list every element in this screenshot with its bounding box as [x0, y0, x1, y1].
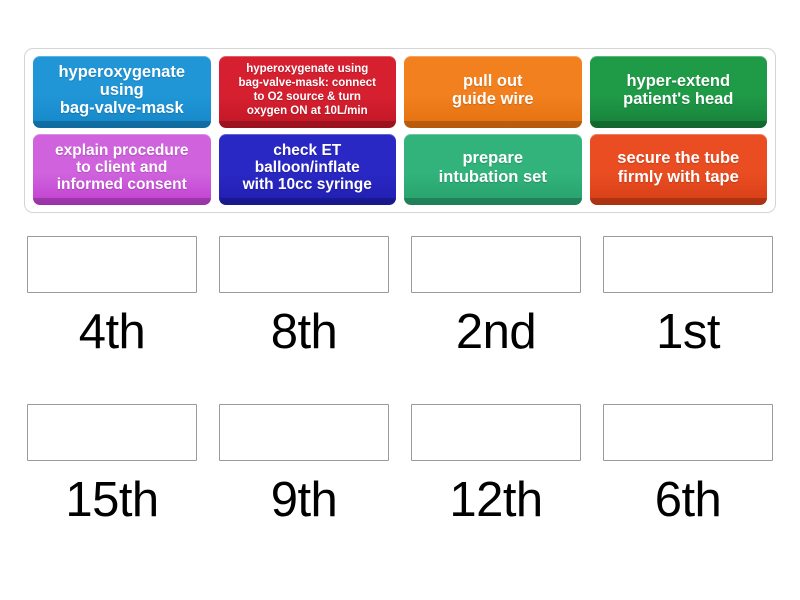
draggable-tile-8[interactable]: secure the tube firmly with tape — [590, 134, 768, 206]
draggable-tile-7[interactable]: prepare intubation set — [404, 134, 582, 206]
drop-box[interactable] — [603, 404, 773, 461]
drop-slot-4: 1st — [600, 236, 776, 358]
drop-box[interactable] — [27, 236, 197, 293]
draggable-tile-1[interactable]: hyperoxygenate using bag-valve-mask — [33, 56, 211, 128]
drop-slot-2: 8th — [216, 236, 392, 358]
ordering-activity-page: hyperoxygenate using bag-valve-mask hype… — [0, 0, 800, 600]
drop-box[interactable] — [27, 404, 197, 461]
drop-slot-row-1: 4th 8th 2nd 1st — [24, 236, 776, 358]
slot-ordinal-label: 6th — [655, 475, 722, 526]
tile-label: hyper-extend patient's head — [623, 72, 733, 112]
draggable-tile-3[interactable]: pull out guide wire — [404, 56, 582, 128]
tile-label: pull out guide wire — [452, 72, 534, 112]
drop-slot-5: 15th — [24, 404, 200, 526]
tile-grid: hyperoxygenate using bag-valve-mask hype… — [33, 56, 767, 205]
tile-label: hyperoxygenate using bag-valve-mask: con… — [239, 62, 376, 121]
tile-label: hyperoxygenate using bag-valve-mask — [58, 63, 185, 121]
tile-label: check ET balloon/inflate with 10cc syrin… — [243, 142, 372, 197]
draggable-tile-2[interactable]: hyperoxygenate using bag-valve-mask: con… — [219, 56, 397, 128]
draggable-tile-4[interactable]: hyper-extend patient's head — [590, 56, 768, 128]
slot-ordinal-label: 15th — [65, 475, 158, 526]
slot-ordinal-label: 2nd — [456, 307, 536, 358]
drop-box[interactable] — [411, 404, 581, 461]
drop-slot-6: 9th — [216, 404, 392, 526]
slot-ordinal-label: 8th — [271, 307, 338, 358]
drop-slot-8: 6th — [600, 404, 776, 526]
drop-slot-1: 4th — [24, 236, 200, 358]
tile-label: explain procedure to client and informed… — [55, 142, 189, 197]
drop-box[interactable] — [219, 404, 389, 461]
drop-slot-3: 2nd — [408, 236, 584, 358]
draggable-tile-6[interactable]: check ET balloon/inflate with 10cc syrin… — [219, 134, 397, 206]
drop-box[interactable] — [219, 236, 389, 293]
draggable-tile-5[interactable]: explain procedure to client and informed… — [33, 134, 211, 206]
slot-ordinal-label: 4th — [79, 307, 146, 358]
drop-slot-7: 12th — [408, 404, 584, 526]
tile-label: secure the tube firmly with tape — [617, 149, 739, 189]
drop-box[interactable] — [411, 236, 581, 293]
slot-ordinal-label: 9th — [271, 475, 338, 526]
drop-slot-row-2: 15th 9th 12th 6th — [24, 404, 776, 526]
drop-box[interactable] — [603, 236, 773, 293]
tile-label: prepare intubation set — [439, 149, 547, 189]
tile-tray: hyperoxygenate using bag-valve-mask hype… — [24, 48, 776, 213]
slot-ordinal-label: 1st — [656, 307, 720, 358]
slot-ordinal-label: 12th — [449, 475, 542, 526]
